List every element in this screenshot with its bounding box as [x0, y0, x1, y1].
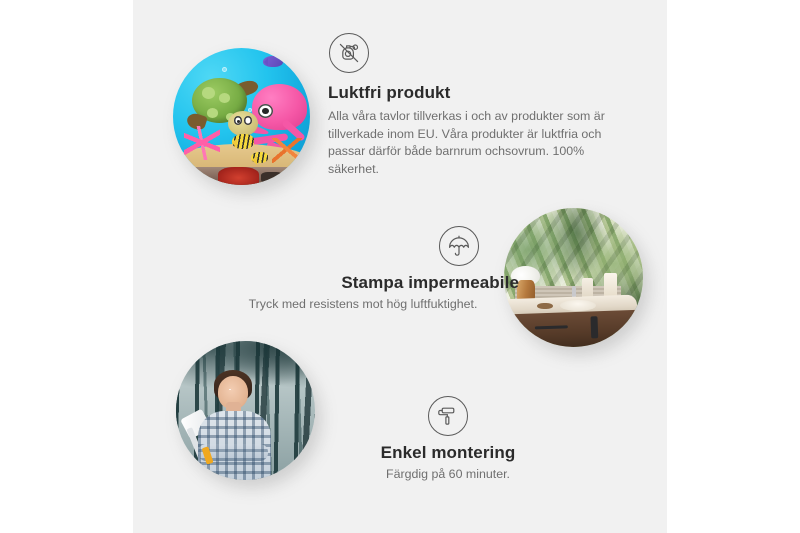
- feature-description: Tryck med resistens mot hög luftfuktighe…: [193, 296, 533, 314]
- yellow-fish-icon: [232, 134, 254, 149]
- feature-easy-mounting: Enkel montering Färgdig på 60 minuter.: [323, 396, 573, 484]
- cabinet-door-handle: [591, 317, 598, 339]
- feature-description: Färgdig på 60 minuter.: [323, 466, 573, 484]
- feature-title: Luktfri produkt: [328, 83, 628, 103]
- screenshot-root: Luktfri produkt Alla våra tavlor tillver…: [0, 0, 800, 533]
- umbrella-icon: [439, 226, 479, 266]
- turtle-eye-icon: [237, 120, 240, 123]
- bathroom-vanity-cabinet: [512, 310, 641, 347]
- turtle-eye-icon: [246, 120, 249, 123]
- underwater-kids-mural-photo: [173, 48, 310, 185]
- yellow-fish-icon: [251, 152, 267, 163]
- feature-odourless: Luktfri produkt Alla våra tavlor tillver…: [328, 33, 628, 178]
- paint-roller-icon: [428, 396, 468, 436]
- ocean-foreground-strip: [173, 167, 310, 185]
- woman-smile: [229, 389, 231, 390]
- no-fragrance-icon: [329, 33, 369, 73]
- feature-title: Stampa impermeabile: [193, 273, 533, 293]
- purple-fish-icon: [263, 56, 282, 67]
- orange-coral-graphic: [272, 138, 302, 163]
- bathroom-sink: [560, 300, 596, 311]
- feature-title: Enkel montering: [323, 443, 573, 463]
- octopus-graphic: [252, 84, 307, 131]
- woman-with-paint-roller-photo: [176, 341, 315, 480]
- pink-coral-graphic: [184, 126, 220, 160]
- product-features-panel: Luktfri produkt Alla våra tavlor tillver…: [133, 0, 667, 533]
- feature-icon-row: [193, 226, 533, 266]
- feature-description: Alla våra tavlor tillverkas i och av pro…: [328, 108, 628, 178]
- cabinet-drawer-handle: [535, 326, 568, 330]
- feature-waterproof: Stampa impermeabile Tryck med resistens …: [193, 226, 533, 314]
- octopus-eye-icon: [258, 104, 273, 118]
- turtle-head-graphic: [228, 111, 258, 136]
